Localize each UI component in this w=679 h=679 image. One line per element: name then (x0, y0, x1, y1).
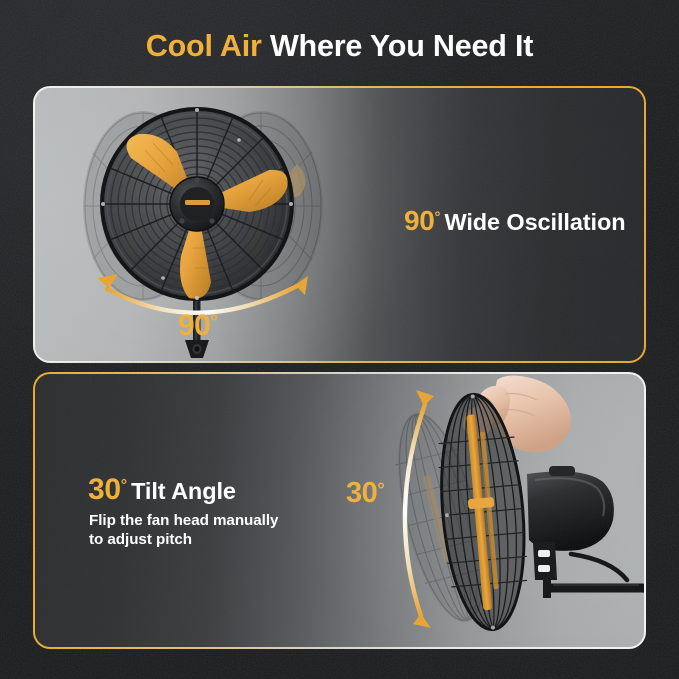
oscillation-callout-label: Wide Oscillation (444, 209, 625, 235)
panel-tilt-inner (35, 374, 644, 647)
page-title-accent: Cool Air (146, 29, 262, 63)
page-title-rest: Where You Need It (262, 29, 534, 63)
tilt-callout: 30°Tilt Angle (88, 473, 236, 507)
tilt-subtitle-line-2: to adjust pitch (89, 531, 319, 550)
oscillation-arc-degree: 90 (178, 309, 210, 342)
fan-blades (127, 134, 288, 299)
fan-cage (99, 106, 295, 302)
hand-icon (463, 376, 571, 453)
tilt-degree-symbol: ° (121, 477, 127, 494)
fan-mount-arm (551, 554, 644, 636)
fan-side-icon (35, 374, 644, 647)
fan-hub (170, 177, 224, 231)
oscillation-callout: 90°Wide Oscillation (404, 205, 625, 237)
tilt-subtitle: Flip the fan head manually to adjust pit… (89, 512, 319, 549)
infographic-canvas: Cool Air Where You Need It (0, 0, 679, 679)
fan-tilt-bracket (533, 542, 557, 598)
tilt-degree-value: 30 (88, 473, 121, 506)
double-arrow-arc-vertical-icon (35, 374, 644, 647)
oscillation-degree-symbol: ° (435, 209, 441, 226)
panel-tilt-texture (35, 374, 644, 647)
tilt-callout-label: Tilt Angle (131, 478, 236, 504)
page-title: Cool Air Where You Need It (0, 29, 679, 64)
oscillation-degree-value: 90 (404, 205, 435, 236)
panel-tilt (33, 372, 646, 649)
oscillation-arc-symbol: ° (210, 312, 217, 333)
tilt-arc-degree: 30 (346, 477, 377, 509)
oscillation-arc-label: 90° (178, 309, 217, 343)
fan-side-cage (433, 391, 533, 633)
tilt-arc-symbol: ° (377, 480, 384, 501)
fan-motor-housing (527, 466, 614, 551)
tilt-arc-label: 30° (346, 477, 384, 510)
tilt-subtitle-line-1: Flip the fan head manually (89, 512, 319, 531)
